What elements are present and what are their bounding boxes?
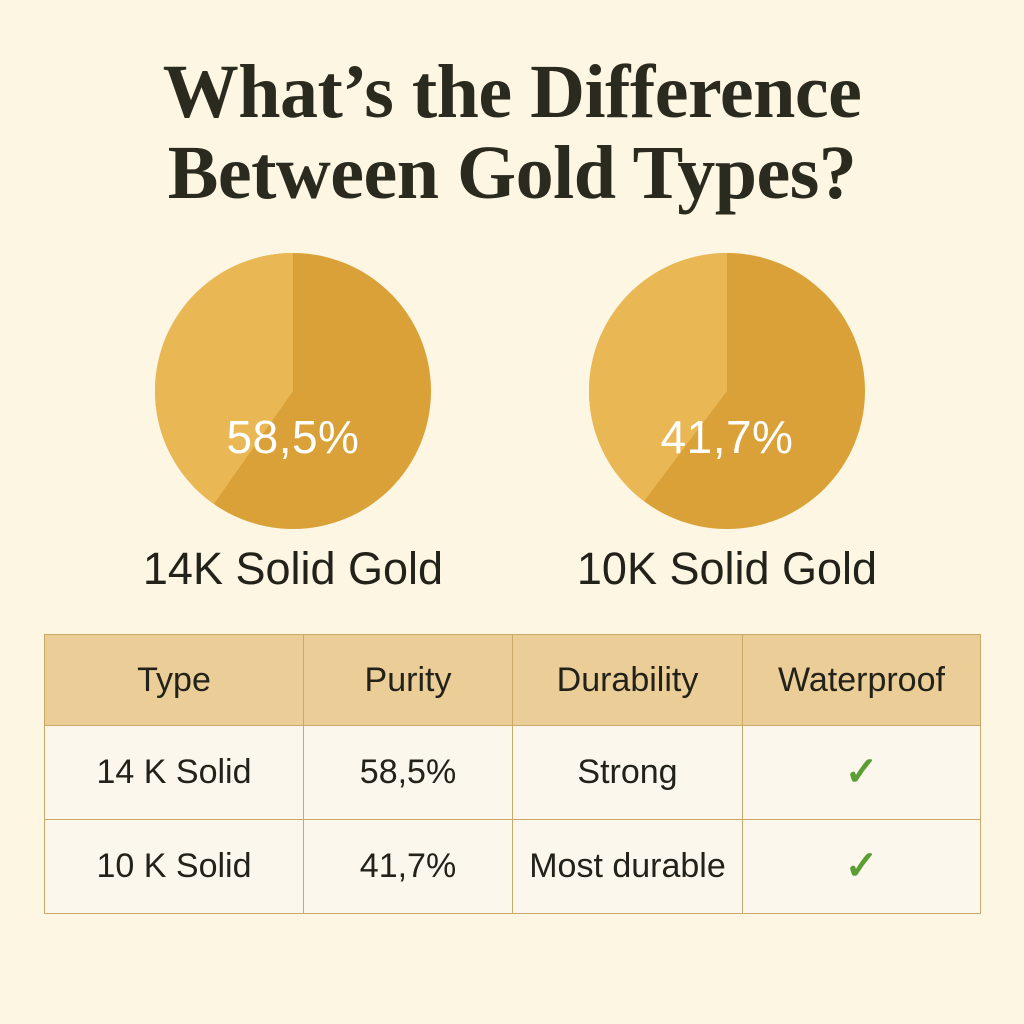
cell-purity: 41,7% xyxy=(304,820,513,914)
cell-durability: Strong xyxy=(513,726,743,820)
cell-purity: 58,5% xyxy=(304,726,513,820)
page-title-line-1: What’s the Difference xyxy=(0,52,1024,133)
check-icon: ✓ xyxy=(845,752,879,792)
pie-caption-10k: 10K Solid Gold xyxy=(512,543,942,595)
cell-waterproof: ✓ xyxy=(743,726,981,820)
cell-waterproof: ✓ xyxy=(743,820,981,914)
table-row: 10 K Solid 41,7% Most durable ✓ xyxy=(45,820,981,914)
pie-chart-10k: 41,7% xyxy=(589,253,865,529)
gold-comparison-table: Type Purity Durability Waterproof 14 K S… xyxy=(44,634,981,914)
table-header-type: Type xyxy=(45,635,304,726)
table-header-durability: Durability xyxy=(513,635,743,726)
pie-chart-14k-graphic xyxy=(155,253,431,529)
pie-caption-group: 14K Solid Gold 10K Solid Gold xyxy=(0,543,1024,603)
table-row: 14 K Solid 58,5% Strong ✓ xyxy=(45,726,981,820)
table-header-waterproof: Waterproof xyxy=(743,635,981,726)
pie-chart-10k-value-label: 41,7% xyxy=(589,410,865,464)
cell-type: 10 K Solid xyxy=(45,820,304,914)
table-header-row: Type Purity Durability Waterproof xyxy=(45,635,981,726)
pie-chart-14k: 58,5% xyxy=(155,253,431,529)
pie-chart-14k-value-label: 58,5% xyxy=(155,410,431,464)
page-title: What’s the Difference Between Gold Types… xyxy=(0,52,1024,213)
check-icon: ✓ xyxy=(845,846,879,886)
pie-caption-14k: 14K Solid Gold xyxy=(78,543,508,595)
cell-type: 14 K Solid xyxy=(45,726,304,820)
pie-chart-group: 58,5% 41,7% xyxy=(0,253,1024,529)
table-header-purity: Purity xyxy=(304,635,513,726)
cell-durability: Most durable xyxy=(513,820,743,914)
pie-chart-10k-graphic xyxy=(589,253,865,529)
page-title-line-2: Between Gold Types? xyxy=(0,133,1024,214)
